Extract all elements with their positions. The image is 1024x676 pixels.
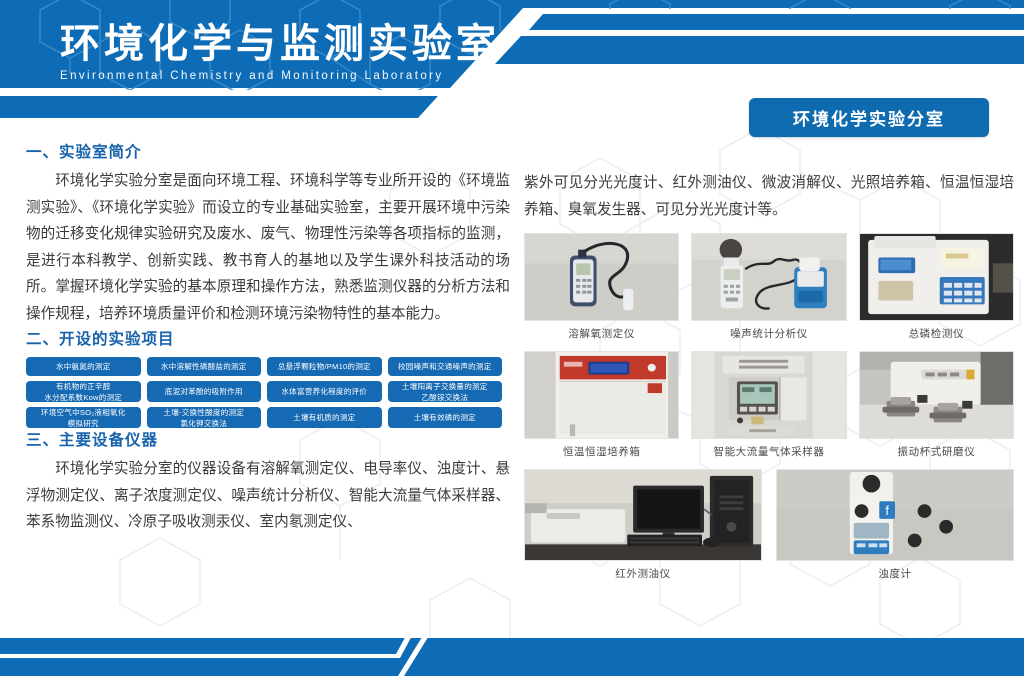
experiment-item[interactable]: 校园噪声和交通噪声的测定 (388, 357, 503, 376)
turbidimeter-photo[interactable]: f (776, 469, 1014, 561)
equipment-photo-row-2: 恒温恒湿培养箱 (524, 351, 1014, 459)
photo-caption: 溶解氧测定仪 (568, 326, 635, 341)
poster-footer (0, 600, 1024, 676)
photo-cell: 振动杯式研磨仪 (859, 351, 1014, 459)
experiment-item[interactable]: 土壤阳离子交换量的测定 乙酸铵交换法 (388, 381, 503, 402)
experiment-item[interactable]: 水中溶解性磷酸盐的测定 (147, 357, 262, 376)
phosphorus-analyzer-photo[interactable] (859, 233, 1014, 321)
poster-header: 环境化学与监测实验室 Environmental Chemistry and M… (0, 0, 1024, 140)
photo-caption: 恒温恒湿培养箱 (563, 444, 641, 459)
photo-cell: 智能大流量气体采样器 (691, 351, 846, 459)
infrared-oil-analyzer-photo[interactable] (524, 469, 762, 561)
photo-cell: 红外测油仪 (524, 469, 762, 581)
photo-caption: 浊度计 (878, 566, 911, 581)
handheld-meter-photo[interactable] (524, 233, 679, 321)
photo-caption: 噪声统计分析仪 (730, 326, 808, 341)
incubator-photo[interactable] (524, 351, 679, 439)
section-1-heading: 一、实验室简介 (26, 140, 510, 162)
experiment-item[interactable]: 土壤有机质的测定 (267, 407, 382, 428)
vibration-mill-photo[interactable] (859, 351, 1014, 439)
photo-cell: f 浊度计 (776, 469, 1014, 581)
equipment-photo-row-3: 红外测油仪 f (524, 469, 1014, 581)
photo-cell: 溶解氧测定仪 (524, 233, 679, 341)
experiment-item[interactable]: 水体富营养化程度的评价 (267, 381, 382, 402)
section-3-body-left: 环境化学实验分室的仪器设备有溶解氧测定仪、电导率仪、浊度计、悬浮物测定仪、离子浓… (26, 456, 510, 536)
photo-cell: 总磷检测仪 (859, 233, 1014, 341)
photo-caption: 智能大流量气体采样器 (713, 444, 824, 459)
page-title-en: Environmental Chemistry and Monitoring L… (60, 70, 500, 82)
footer-shape (0, 600, 1024, 676)
photo-cell: 噪声统计分析仪 (691, 233, 846, 341)
experiment-item[interactable]: 土壤-交换性酸度的测定 氯化钾交换法 (147, 407, 262, 428)
svg-text:f: f (885, 503, 889, 518)
lab-subsection-badge[interactable]: 环境化学实验分室 (749, 98, 989, 137)
section-3-heading: 三、主要设备仪器 (26, 428, 510, 450)
experiment-project-grid: 水中氨氮的测定 水中溶解性磷酸盐的测定 总悬浮颗粒物/PM10的测定 校园噪声和… (26, 357, 502, 428)
gas-sampler-photo[interactable] (691, 351, 846, 439)
experiment-item[interactable]: 总悬浮颗粒物/PM10的测定 (267, 357, 382, 376)
right-column: 紫外可见分光光度计、红外测油仪、微波消解仪、光照培养箱、恒温恒湿培养箱、臭氧发生… (524, 170, 1014, 581)
equipment-photo-row-1: 溶解氧测定仪 (524, 233, 1014, 341)
section-3-body-right: 紫外可见分光光度计、红外测油仪、微波消解仪、光照培养箱、恒温恒湿培养箱、臭氧发生… (524, 170, 1014, 223)
experiment-item[interactable]: 环境空气中SO₂液相氧化 模拟研究 (26, 407, 141, 428)
experiment-item[interactable]: 土壤有效磷的测定 (388, 407, 503, 428)
experiment-item[interactable]: 水中氨氮的测定 (26, 357, 141, 376)
experiment-item[interactable]: 底泥对苯酚的吸附作用 (147, 381, 262, 402)
poster-canvas: 环境化学与监测实验室 Environmental Chemistry and M… (0, 0, 1024, 676)
photo-caption: 总磷检测仪 (909, 326, 965, 341)
experiment-item[interactable]: 有机物的正辛醇 水分配系数Kow的测定 (26, 381, 141, 402)
left-column: 一、实验室简介 环境化学实验分室是面向环境工程、环境科学等专业所开设的《环境监测… (26, 140, 510, 536)
sound-level-meter-photo[interactable] (691, 233, 846, 321)
photo-caption: 振动杯式研磨仪 (897, 444, 975, 459)
poster-content: 一、实验室简介 环境化学实验分室是面向环境工程、环境科学等专业所开设的《环境监测… (0, 140, 1024, 600)
header-title-block: 环境化学与监测实验室 Environmental Chemistry and M… (60, 22, 500, 82)
section-2-heading: 二、开设的实验项目 (26, 327, 510, 349)
photo-caption: 红外测油仪 (615, 566, 671, 581)
photo-cell: 恒温恒湿培养箱 (524, 351, 679, 459)
page-title-cn: 环境化学与监测实验室 (60, 22, 500, 67)
section-1-body: 环境化学实验分室是面向环境工程、环境科学等专业所开设的《环境监测实验》、《环境化… (26, 168, 510, 327)
